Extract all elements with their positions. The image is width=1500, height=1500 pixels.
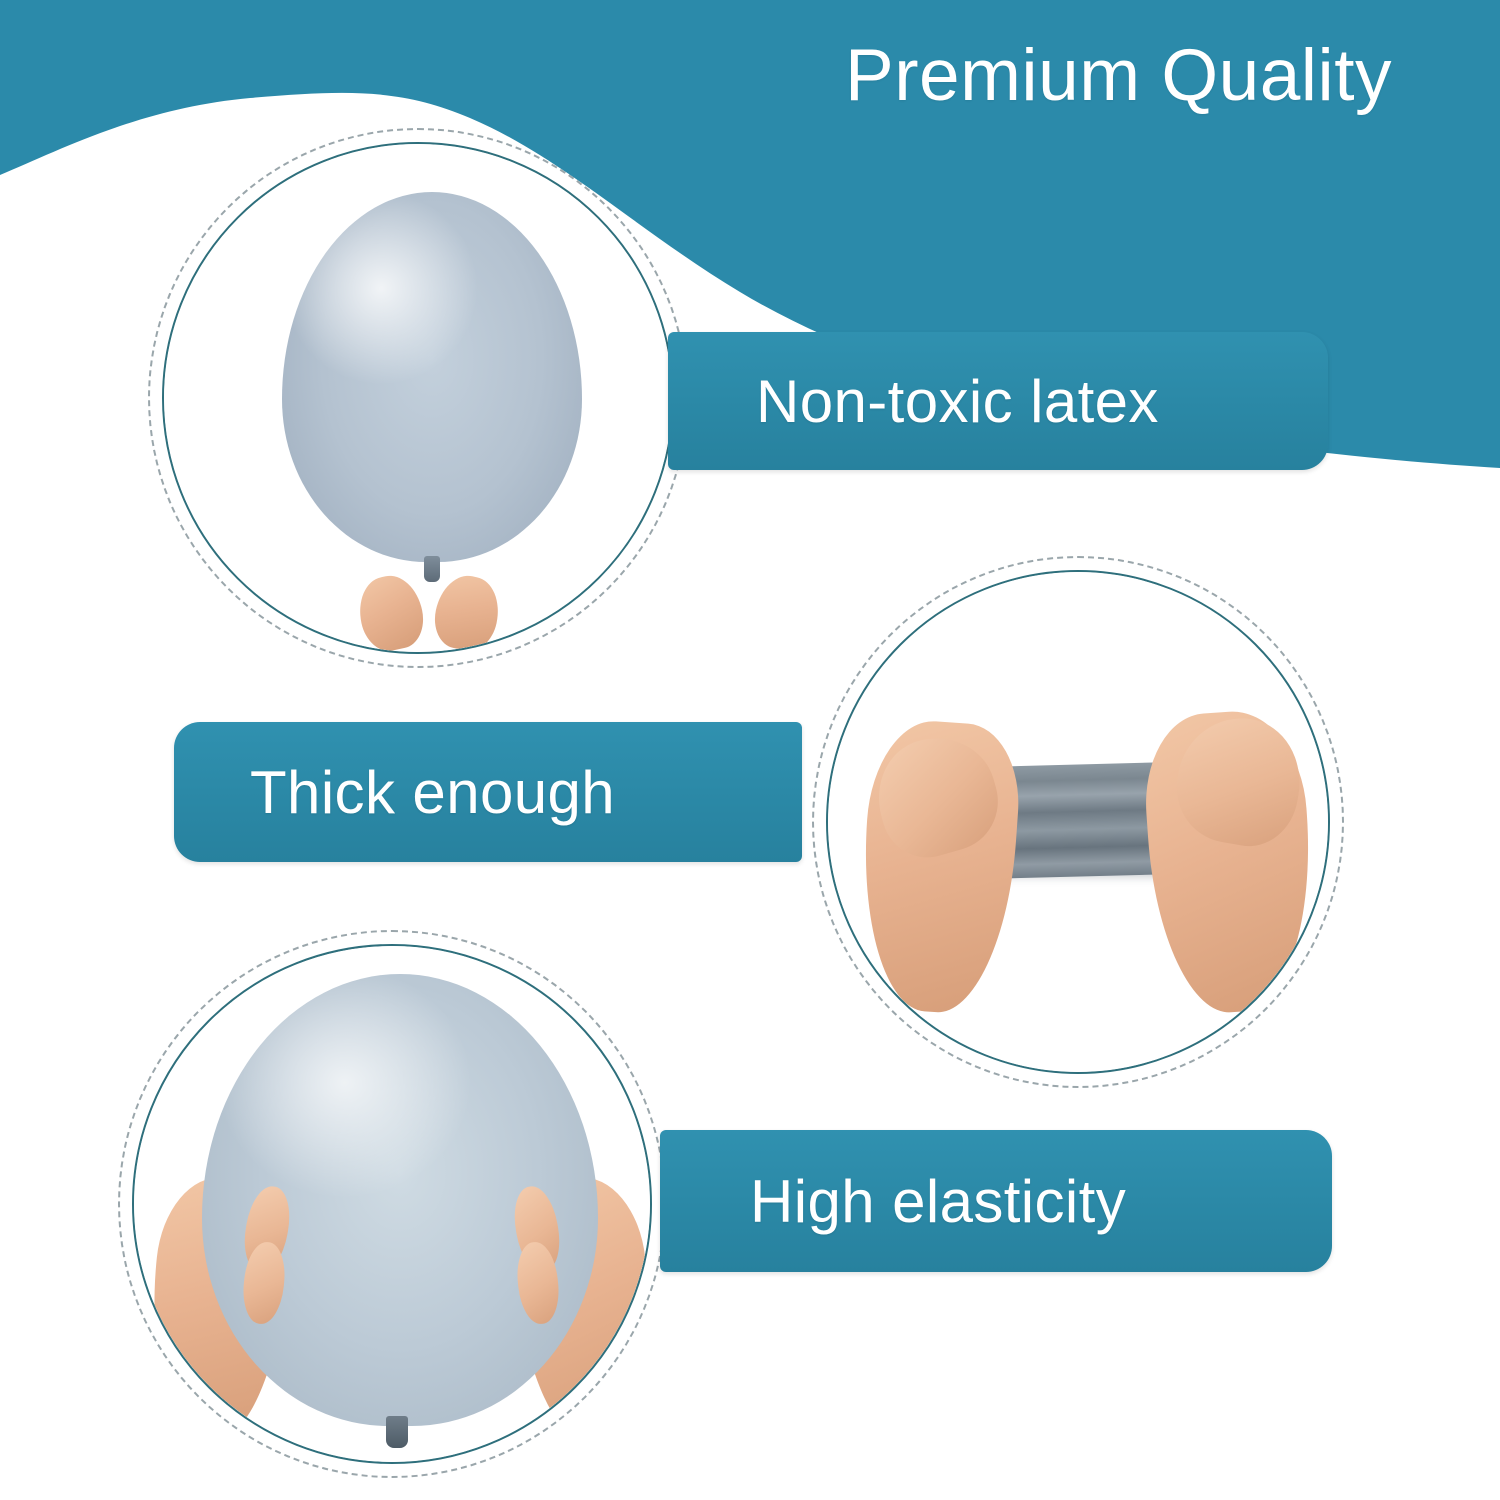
feature-medallion-thick-enough <box>812 556 1344 1088</box>
solid-ring-outline <box>162 142 674 654</box>
press-hands-icon <box>134 946 650 1462</box>
feature-badge-label: Non-toxic latex <box>756 367 1159 436</box>
page-title: Premium Quality <box>845 38 1485 115</box>
feature-badge-non-toxic-latex[interactable]: Non-toxic latex <box>668 332 1328 470</box>
inflated-balloon <box>282 192 582 562</box>
product-infographic: Premium Quality Non-toxic latex <box>0 0 1500 1500</box>
feature-badge-label: High elasticity <box>750 1167 1126 1236</box>
solid-ring-outline <box>826 570 1330 1074</box>
feature-badge-high-elasticity[interactable]: High elasticity <box>660 1130 1332 1272</box>
feature-medallion-non-toxic-latex <box>148 128 688 668</box>
solid-ring-outline <box>132 944 652 1464</box>
stretch-hands-icon <box>828 572 1328 1072</box>
pinching-hand-left <box>353 570 429 652</box>
balloon-neck <box>424 556 440 582</box>
feature-badge-thick-enough[interactable]: Thick enough <box>174 722 802 862</box>
balloon-neck <box>386 1416 408 1448</box>
feature-medallion-high-elasticity <box>118 930 666 1478</box>
pinching-hand-right <box>429 570 505 652</box>
balloon-icon <box>164 144 672 652</box>
feature-badge-label: Thick enough <box>250 758 615 827</box>
